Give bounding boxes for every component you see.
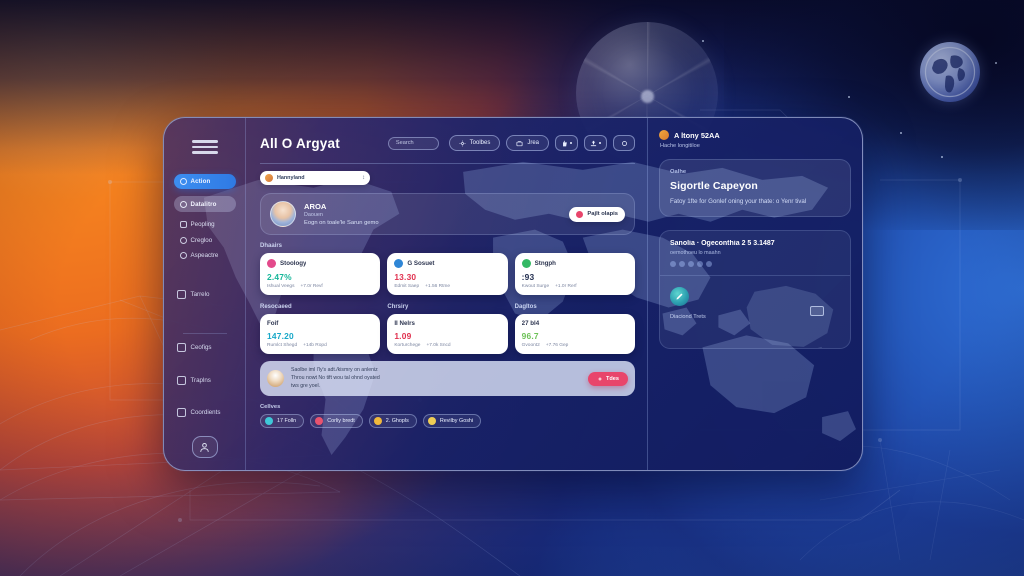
dashboard-icon <box>180 201 187 208</box>
right-sub-panel-bottom: Diaciond Trets <box>660 276 850 348</box>
toolbar: Toolbes Jrea <box>449 135 635 151</box>
profile-cta-button[interactable]: Pajlt olapis <box>569 207 625 222</box>
message-action-label: Tdes <box>606 376 619 382</box>
user-avatar-icon <box>659 130 669 140</box>
message-line: Saolbe iml l'ly's adt./kismry on anleniz <box>291 367 581 375</box>
toolbar-button-jrea[interactable]: Jrea <box>506 135 549 151</box>
message-text: Saolbe iml l'ly's adt./kismry on anleniz… <box>291 367 581 390</box>
clock-icon <box>180 252 187 259</box>
profile-cta-label: Pajlt olapis <box>587 211 618 217</box>
badge-dot <box>599 142 601 144</box>
message-avatar <box>267 370 284 387</box>
profile-text: AROA Daouen Eogn on toale'le Sarun gemo <box>304 202 379 226</box>
toolbar-button-label: Jrea <box>527 140 539 146</box>
hamburger-menu-icon[interactable] <box>192 140 218 154</box>
stat-card-foot-left: Korturchege <box>394 343 420 348</box>
stat-card-value: 2.47% <box>267 272 373 282</box>
chip-label: 17 Folln <box>277 418 296 424</box>
stat-card-footer: Gvoont2 +7.76 Gep <box>522 343 628 348</box>
message-bar: Saolbe iml l'ly's adt./kismry on anleniz… <box>260 361 635 396</box>
stat-card[interactable]: II Nelrs 1.09 Korturchege +7.0k Sncd <box>387 314 507 354</box>
pen-icon <box>675 292 684 301</box>
header-divider <box>260 163 635 164</box>
stat-card[interactable]: Stoology 2.47% Ishual Veegs +7.0r Revf <box>260 253 380 295</box>
stat-card-foot-right: +14b Ropd <box>303 343 327 348</box>
chip-label: 2. Ghopls <box>386 418 409 424</box>
tag-chip-label: Hannyland <box>277 175 305 181</box>
sidebar-item-label: Tarrelo <box>191 291 210 298</box>
sidebar-item-peopling[interactable]: Peopling <box>174 219 236 231</box>
stat-card-value: 96.7 <box>522 331 628 341</box>
message-line: tws gre yoel. <box>291 383 581 391</box>
stat-card-footer: Kwout Surge +1.0r Rerf <box>522 284 628 289</box>
filter-chip[interactable]: Corliy bredt <box>310 414 363 428</box>
right-sub-panel-top: Sanolia · Ogeconthia 2 5 3.1487 oemothoe… <box>660 231 850 276</box>
record-icon <box>576 211 583 218</box>
chip-label: Revilby Goshi <box>440 418 473 424</box>
upload-icon <box>590 140 597 147</box>
settings-icon <box>177 343 186 352</box>
account-avatar-button[interactable] <box>192 436 218 458</box>
filter-chip[interactable]: 17 Folln <box>260 414 304 428</box>
stat-card-value: 147.20 <box>267 331 373 341</box>
stat-card-header: Stngph <box>522 259 628 268</box>
stat-card[interactable]: Stngph :93 Kwout Surge +1.0r Rerf <box>515 253 635 295</box>
stat-card-footer: Rumlct Shegd +14b Ropd <box>267 343 373 348</box>
column-label: Resocaeed <box>260 304 380 310</box>
message-action-button[interactable]: Tdes <box>588 372 628 386</box>
toolbar-button-upload[interactable] <box>584 135 607 151</box>
stat-card-footer: Korturchege +7.0k Sncd <box>394 343 500 348</box>
stat-card-foot-right: +7.76 Gep <box>546 343 569 348</box>
top-bar: All O Argyat Search Toolbes Jrea <box>260 130 635 156</box>
right-card-heading: Sigortle Capeyon <box>670 180 840 192</box>
stat-card[interactable]: G Sosuet 13.30 Edmit Saep +1.56 Rtme <box>387 253 507 295</box>
right-sub-panel-subtitle: oemothoeu lo maahn <box>670 250 840 256</box>
toolbar-button-toolbes[interactable]: Toolbes <box>449 135 501 151</box>
sidebar-item-datalitro[interactable]: Datalitro <box>174 196 236 211</box>
stat-card-foot-left: Edmit Saep <box>394 284 419 289</box>
stat-card-header: Stoology <box>267 259 373 268</box>
badge-dot <box>570 142 572 144</box>
rating-dot <box>670 261 676 267</box>
rating-dot <box>706 261 712 267</box>
sidebar-item-coordients[interactable]: Coordients <box>172 404 238 420</box>
settings-icon <box>459 140 466 147</box>
stat-card-foot-right: +1.0r Rerf <box>555 284 576 289</box>
right-sub-panel: Sanolia · Ogeconthia 2 5 3.1487 oemothoe… <box>659 230 851 349</box>
stat-card-value: 13.30 <box>394 272 500 282</box>
right-card-paragraph: Fatoy 1fte for Gonlef oning your thate: … <box>670 197 840 207</box>
profile-name: AROA <box>304 202 379 211</box>
status-icon <box>267 259 276 268</box>
sidebar-item-label: Peopling <box>191 221 215 228</box>
sidebar-item-label: Datalitro <box>191 201 217 208</box>
column-label: Chrsiry <box>387 304 507 310</box>
stat-card-foot-right: +7.0k Sncd <box>426 343 450 348</box>
stat-card-foot-left: Kwout Surge <box>522 284 549 289</box>
stat-card-foot-left: Gvoont2 <box>522 343 540 348</box>
sidebar-item-cregloo[interactable]: Cregloo <box>174 234 236 246</box>
page-title: All O Argyat <box>260 136 340 151</box>
toolbar-button-sync[interactable] <box>613 135 635 151</box>
search-input[interactable]: Search <box>388 137 439 150</box>
chip-icon <box>315 417 323 425</box>
sidebar-item-action[interactable]: Action <box>174 174 236 189</box>
stat-card-foot-left: Ishual Veegs <box>267 284 294 289</box>
stat-card-title: Stoology <box>280 260 306 267</box>
rating-dot <box>679 261 685 267</box>
stat-card-foot-right: +1.56 Rtme <box>425 284 450 289</box>
stat-card-footer: Edmit Saep +1.56 Rtme <box>394 284 500 289</box>
gear-icon <box>597 376 603 382</box>
stat-card-header: G Sosuet <box>394 259 500 268</box>
stats-section-label: Dhaairs <box>260 243 635 249</box>
pen-icon-button[interactable] <box>670 287 689 306</box>
filter-chip[interactable]: 2. Ghopls <box>369 414 417 428</box>
stat-card-title: 27 bl4 <box>522 320 628 327</box>
profile-card: AROA Daouen Eogn on toale'le Sarun gemo … <box>260 193 635 235</box>
chip-icon <box>265 417 273 425</box>
inbox-icon <box>177 376 186 385</box>
sidebar-divider <box>183 333 227 334</box>
rating-dots <box>670 261 840 267</box>
sidebar-item-aspeactre[interactable]: Aspeactre <box>174 249 236 261</box>
layers-icon <box>177 408 186 417</box>
sidebar-item-label: Coordients <box>191 409 221 416</box>
users-icon <box>180 221 187 228</box>
status-icon <box>394 259 403 268</box>
message-line: Throu nowt No tift wou tal ohnd oyated <box>291 375 581 383</box>
column-label: Dagltos <box>515 304 635 310</box>
chip-icon <box>428 417 436 425</box>
right-user-row[interactable]: A ltony 52AA <box>659 130 851 140</box>
tag-chip[interactable]: Hannyland ↕ <box>260 171 370 185</box>
sync-icon <box>621 140 628 147</box>
rating-dot <box>697 261 703 267</box>
right-panel: A ltony 52AA Hache longitiloe Oalhe Sigo… <box>647 118 862 470</box>
sidebar-item-label: Traplns <box>191 377 211 384</box>
center-column: All O Argyat Search Toolbes Jrea <box>246 118 647 470</box>
thumbs-up-icon <box>561 140 568 147</box>
chips-section-label: Cellves <box>260 404 635 410</box>
right-card-tag: Oalhe <box>670 169 840 175</box>
tag-chip-more-icon[interactable]: ↕ <box>362 175 365 181</box>
sidebar-item-label: Cregloo <box>191 237 213 244</box>
chip-icon <box>374 417 382 425</box>
profile-description: Eogn on toale'le Sarun gemo <box>304 220 379 226</box>
stat-card[interactable]: Foif 147.20 Rumlct Shegd +14b Ropd <box>260 314 380 354</box>
stat-card-value: :93 <box>522 272 628 282</box>
stat-card-title: Foif <box>267 320 373 327</box>
status-icon <box>522 259 531 268</box>
stat-card-foot-right: +7.0r Revf <box>300 284 322 289</box>
right-sub-panel-title: Sanolia · Ogeconthia 2 5 3.1487 <box>670 240 840 247</box>
sidebar-item-label: Action <box>191 178 211 185</box>
search-placeholder: Search <box>396 140 414 146</box>
stat-cards-row-1: Stoology 2.47% Ishual Veegs +7.0r Revf G… <box>260 253 635 295</box>
toolbar-button-thumbs-up[interactable] <box>555 135 578 151</box>
sidebar-item-label: Ceofigs <box>191 344 212 351</box>
filter-chip[interactable]: Revilby Goshi <box>423 414 481 428</box>
card-icon <box>810 306 824 316</box>
sidebar-item-label: Aspeactre <box>191 252 219 259</box>
stat-card-value: 1.09 <box>394 331 500 341</box>
chip-label: Corliy bredt <box>327 418 355 424</box>
profile-subtitle: Daouen <box>304 212 379 218</box>
stat-card-title: II Nelrs <box>394 320 500 327</box>
column-labels: Resocaeed Chrsiry Dagltos <box>260 304 635 310</box>
stat-cards-row-2: Foif 147.20 Rumlct Shegd +14b Ropd II Ne… <box>260 314 635 354</box>
right-content-card: Oalhe Sigortle Capeyon Fatoy 1fte for Go… <box>659 159 851 217</box>
stat-card-foot-left: Rumlct Shegd <box>267 343 297 348</box>
rating-dot <box>688 261 694 267</box>
right-user-subtitle: Hache longitiloe <box>660 143 851 149</box>
toolbar-button-label: Toolbes <box>470 140 491 146</box>
chips-row: 17 Folln Corliy bredt 2. Ghopls Revilby … <box>260 414 635 428</box>
right-user-title: A ltony 52AA <box>674 131 720 140</box>
sidebar-item-tarrelo[interactable]: Tarrelo <box>172 286 238 302</box>
sidebar: Action Datalitro Peopling Cregloo Aspeac… <box>164 118 246 470</box>
dashboard-window: Action Datalitro Peopling Cregloo Aspeac… <box>163 117 863 471</box>
grid-icon <box>180 178 187 185</box>
stat-card-title: Stngph <box>535 260 556 267</box>
main-area: All O Argyat Search Toolbes Jrea <box>246 118 862 470</box>
avatar-icon <box>265 174 273 182</box>
sidebar-item-ceofigs[interactable]: Ceofigs <box>172 340 238 356</box>
circle-icon <box>180 237 187 244</box>
sidebar-item-traplns[interactable]: Traplns <box>172 372 238 388</box>
stat-card[interactable]: 27 bl4 96.7 Gvoont2 +7.76 Gep <box>515 314 635 354</box>
stat-card-footer: Ishual Veegs +7.0r Revf <box>267 284 373 289</box>
profile-avatar <box>270 201 296 227</box>
stat-card-title: G Sosuet <box>407 260 434 267</box>
briefcase-icon <box>516 140 523 147</box>
folder-icon <box>177 290 186 299</box>
